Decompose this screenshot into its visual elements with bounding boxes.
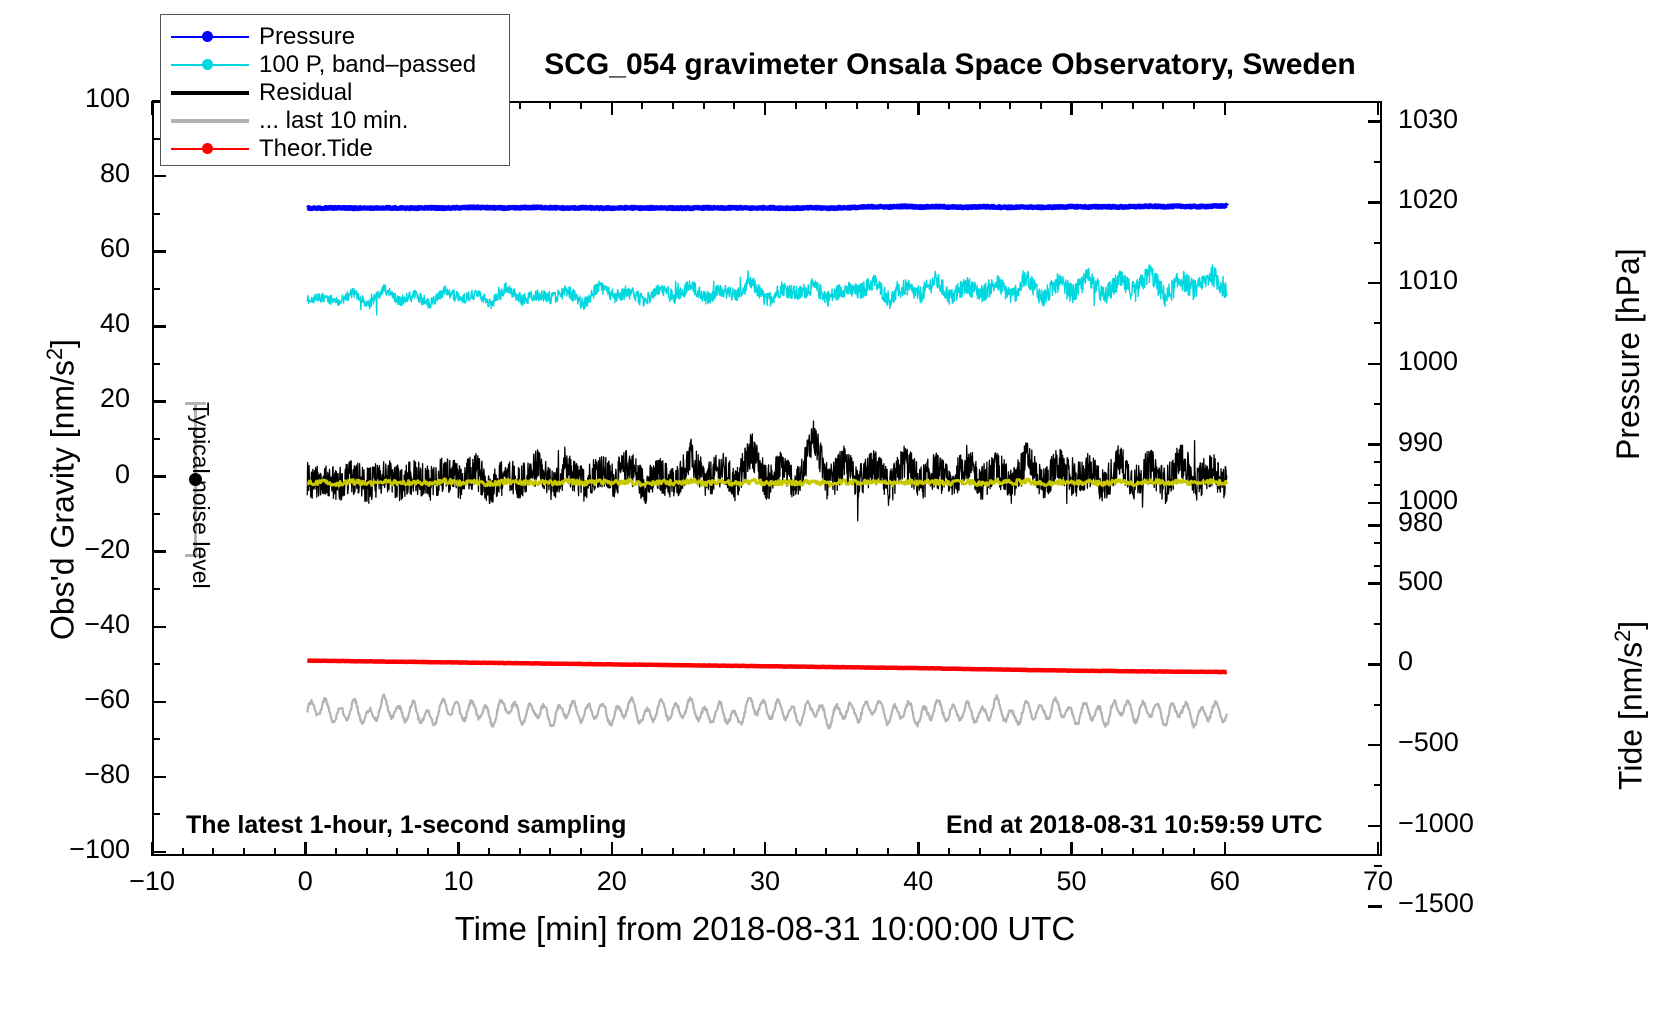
y-left-major-tick xyxy=(152,475,166,478)
y-right-pressure-major-tick xyxy=(1368,120,1382,123)
x-major-tick xyxy=(611,842,614,856)
y-left-minor-tick xyxy=(152,438,160,440)
y-left-minor-tick xyxy=(152,363,160,365)
y-left-tick-label: −20 xyxy=(0,534,130,565)
y-right-pressure-major-tick xyxy=(1368,524,1382,527)
y-right-pressure-tick-label: 1010 xyxy=(1398,265,1508,296)
x-top-minor-tick xyxy=(1162,101,1164,109)
legend-pressure[interactable]: Pressure xyxy=(171,23,499,51)
legend-bandpassed[interactable]: 100 P, band–passed xyxy=(171,51,499,79)
legend-last10[interactable]: ... last 10 min. xyxy=(171,107,499,135)
y-right-tide-tick-label: 500 xyxy=(1398,566,1518,597)
y-right-pressure-axis-title: Pressure [hPa] xyxy=(1610,248,1647,460)
x-major-tick xyxy=(1070,842,1073,856)
legend-pressure-label: Pressure xyxy=(259,23,355,51)
x-minor-tick xyxy=(243,848,245,856)
y-right-pressure-major-tick xyxy=(1368,443,1382,446)
x-minor-tick xyxy=(182,848,184,856)
y-right-pressure-major-tick xyxy=(1368,363,1382,366)
x-top-minor-tick xyxy=(703,101,705,109)
y-right-tide-tick-label: −1500 xyxy=(1398,888,1518,919)
y-right-pressure-minor-tick xyxy=(1374,161,1382,163)
y-left-minor-tick xyxy=(152,138,160,140)
y-left-minor-tick xyxy=(152,513,160,515)
x-minor-tick xyxy=(580,848,582,856)
tide-title-sup: 2 xyxy=(1610,630,1635,642)
x-top-minor-tick xyxy=(519,101,521,109)
legend-tide-swatch xyxy=(171,139,249,159)
x-major-tick xyxy=(457,842,460,856)
x-minor-tick xyxy=(1162,848,1164,856)
y-left-major-tick xyxy=(152,550,166,553)
y-right-tide-major-tick xyxy=(1368,744,1382,747)
x-top-minor-tick xyxy=(1040,101,1042,109)
trace-residual xyxy=(307,421,1227,521)
y-left-tick-label: 80 xyxy=(0,158,130,189)
legend-dot-icon xyxy=(202,143,213,154)
trace-theoretical-tide xyxy=(307,661,1227,673)
annotation-right: End at 2018-08-31 10:59:59 UTC xyxy=(946,811,1323,840)
x-top-major-tick xyxy=(1224,101,1227,115)
trace-last-10-min xyxy=(307,694,1227,728)
y-right-tide-axis-title: Tide [nm/s2] xyxy=(1610,621,1650,790)
x-top-minor-tick xyxy=(580,101,582,109)
y-right-pressure-tick-label: 990 xyxy=(1398,427,1508,458)
y-left-minor-tick xyxy=(152,663,160,665)
tide-title-end: ] xyxy=(1613,621,1649,630)
x-top-minor-tick xyxy=(795,101,797,109)
x-top-minor-tick xyxy=(733,101,735,109)
x-minor-tick xyxy=(856,848,858,856)
legend-bandpassed-label: 100 P, band–passed xyxy=(259,51,476,79)
y-right-pressure-minor-tick xyxy=(1374,565,1382,567)
legend-bandpassed-swatch xyxy=(171,55,249,75)
legend-tide[interactable]: Theor.Tide xyxy=(171,135,499,163)
y-right-pressure-minor-tick xyxy=(1374,322,1382,324)
legend-residual[interactable]: Residual xyxy=(171,79,499,107)
x-tick-label: 50 xyxy=(1032,866,1112,897)
x-tick-label: 20 xyxy=(572,866,652,897)
x-minor-tick xyxy=(641,848,643,856)
y-right-pressure-minor-tick xyxy=(1374,403,1382,405)
legend-line-icon xyxy=(171,91,249,95)
legend-residual-swatch xyxy=(171,83,249,103)
y-left-minor-tick xyxy=(152,213,160,215)
y-left-title-end: ] xyxy=(45,339,81,348)
x-top-minor-tick xyxy=(825,101,827,109)
x-top-minor-tick xyxy=(1193,101,1195,109)
y-left-tick-label: −40 xyxy=(0,609,130,640)
y-left-major-tick xyxy=(152,325,166,328)
y-left-tick-label: 40 xyxy=(0,308,130,339)
y-right-tide-tick-label: −500 xyxy=(1398,727,1518,758)
gravimeter-plot-page: SCG_054 gravimeter Onsala Space Observat… xyxy=(0,0,1660,1020)
x-top-minor-tick xyxy=(549,101,551,109)
y-right-tide-tick-label: −1000 xyxy=(1398,808,1518,839)
noise-label: Typical noise level xyxy=(187,402,214,589)
legend-dot-icon xyxy=(202,31,213,42)
x-minor-tick xyxy=(887,848,889,856)
x-major-tick xyxy=(764,842,767,856)
x-tick-label: 40 xyxy=(878,866,958,897)
x-major-tick xyxy=(917,842,920,856)
x-minor-tick xyxy=(1009,848,1011,856)
legend-line-icon xyxy=(171,119,249,123)
x-top-minor-tick xyxy=(672,101,674,109)
chart-legend: Pressure100 P, band–passedResidual... la… xyxy=(160,14,510,166)
chart-title: SCG_054 gravimeter Onsala Space Observat… xyxy=(520,48,1380,82)
x-top-minor-tick xyxy=(1132,101,1134,109)
x-tick-label: 0 xyxy=(265,866,345,897)
tide-title-main: Tide [nm/s xyxy=(1613,642,1649,790)
trace-pressure-bandpassed xyxy=(307,265,1227,315)
x-minor-tick xyxy=(212,848,214,856)
y-right-pressure-minor-tick xyxy=(1374,242,1382,244)
legend-pressure-swatch xyxy=(171,27,249,47)
legend-dot-icon xyxy=(202,59,213,70)
y-left-tick-label: −100 xyxy=(0,834,130,865)
x-minor-tick xyxy=(672,848,674,856)
y-right-pressure-major-tick xyxy=(1368,282,1382,285)
x-minor-tick xyxy=(427,848,429,856)
y-right-tide-tick-label: 1000 xyxy=(1398,485,1518,516)
x-top-major-tick xyxy=(917,101,920,115)
y-left-minor-tick xyxy=(152,588,160,590)
y-left-major-tick xyxy=(152,175,166,178)
x-top-major-tick xyxy=(611,101,614,115)
y-right-tide-major-tick xyxy=(1368,582,1382,585)
y-left-tick-label: 0 xyxy=(0,459,130,490)
y-left-major-tick xyxy=(152,851,166,854)
y-right-tide-minor-tick xyxy=(1374,865,1382,867)
x-top-minor-tick xyxy=(641,101,643,109)
x-minor-tick xyxy=(1193,848,1195,856)
x-tick-label: 60 xyxy=(1185,866,1265,897)
x-major-tick xyxy=(304,842,307,856)
x-minor-tick xyxy=(703,848,705,856)
x-minor-tick xyxy=(795,848,797,856)
y-left-tick-label: −80 xyxy=(0,759,130,790)
y-left-tick-label: 100 xyxy=(0,83,130,114)
y-left-tick-label: 60 xyxy=(0,233,130,264)
x-minor-tick xyxy=(396,848,398,856)
x-top-major-tick xyxy=(1377,101,1380,115)
x-minor-tick xyxy=(274,848,276,856)
y-right-pressure-major-tick xyxy=(1368,201,1382,204)
plot-area: Typical noise level The latest 1-hour, 1… xyxy=(152,101,1382,856)
y-right-tide-major-tick xyxy=(1368,905,1382,908)
y-right-pressure-tick-label: 1030 xyxy=(1398,104,1508,135)
y-right-tide-major-tick xyxy=(1368,825,1382,828)
x-tick-label: 10 xyxy=(419,866,499,897)
y-left-tick-label: 20 xyxy=(0,383,130,414)
y-right-tide-minor-tick xyxy=(1374,784,1382,786)
x-tick-label: −10 xyxy=(112,866,192,897)
y-right-tide-tick-label: 0 xyxy=(1398,646,1518,677)
x-top-major-tick xyxy=(764,101,767,115)
x-tick-label: 30 xyxy=(725,866,805,897)
y-left-title-sup: 2 xyxy=(42,348,67,360)
x-major-tick xyxy=(151,842,154,856)
legend-tide-label: Theor.Tide xyxy=(259,135,373,163)
y-right-tide-major-tick xyxy=(1368,663,1382,666)
y-right-pressure-minor-tick xyxy=(1374,484,1382,486)
y-left-minor-tick xyxy=(152,738,160,740)
y-right-tide-minor-tick xyxy=(1374,704,1382,706)
x-top-major-tick xyxy=(1070,101,1073,115)
y-right-tide-minor-tick xyxy=(1374,623,1382,625)
x-minor-tick xyxy=(488,848,490,856)
x-minor-tick xyxy=(1132,848,1134,856)
y-left-major-tick xyxy=(152,626,166,629)
data-traces xyxy=(154,103,1380,854)
x-minor-tick xyxy=(979,848,981,856)
x-top-minor-tick xyxy=(948,101,950,109)
y-left-minor-tick xyxy=(152,288,160,290)
x-axis-title: Time [min] from 2018-08-31 10:00:00 UTC xyxy=(0,910,1530,948)
legend-last10-label: ... last 10 min. xyxy=(259,107,408,135)
x-minor-tick xyxy=(335,848,337,856)
series-canvas xyxy=(154,103,1380,854)
x-minor-tick xyxy=(948,848,950,856)
legend-last10-swatch xyxy=(171,111,249,131)
y-right-pressure-tick-label: 1020 xyxy=(1398,184,1508,215)
y-right-tide-major-tick xyxy=(1368,502,1382,505)
x-top-minor-tick xyxy=(979,101,981,109)
x-top-minor-tick xyxy=(1009,101,1011,109)
x-minor-tick xyxy=(733,848,735,856)
x-top-major-tick xyxy=(151,101,154,115)
x-minor-tick xyxy=(549,848,551,856)
x-major-tick xyxy=(1377,842,1380,856)
pressure-title-text: Pressure [hPa] xyxy=(1610,248,1646,460)
x-minor-tick xyxy=(1040,848,1042,856)
y-right-pressure-tick-label: 1000 xyxy=(1398,346,1508,377)
x-top-minor-tick xyxy=(1101,101,1103,109)
y-left-minor-tick xyxy=(152,813,160,815)
x-major-tick xyxy=(1224,842,1227,856)
x-minor-tick xyxy=(1101,848,1103,856)
legend-residual-label: Residual xyxy=(259,79,352,107)
x-minor-tick xyxy=(519,848,521,856)
y-left-major-tick xyxy=(152,400,166,403)
x-top-minor-tick xyxy=(856,101,858,109)
x-minor-tick xyxy=(825,848,827,856)
trace-pressure xyxy=(307,205,1227,209)
annotation-left: The latest 1-hour, 1-second sampling xyxy=(186,811,626,840)
y-left-tick-label: −60 xyxy=(0,684,130,715)
y-left-major-tick xyxy=(152,701,166,704)
x-minor-tick xyxy=(366,848,368,856)
y-right-tide-minor-tick xyxy=(1374,461,1382,463)
x-top-minor-tick xyxy=(887,101,889,109)
y-left-major-tick xyxy=(152,776,166,779)
y-right-tide-minor-tick xyxy=(1374,542,1382,544)
x-axis-title-text: Time [min] from 2018-08-31 10:00:00 UTC xyxy=(455,910,1076,947)
y-left-major-tick xyxy=(152,250,166,253)
